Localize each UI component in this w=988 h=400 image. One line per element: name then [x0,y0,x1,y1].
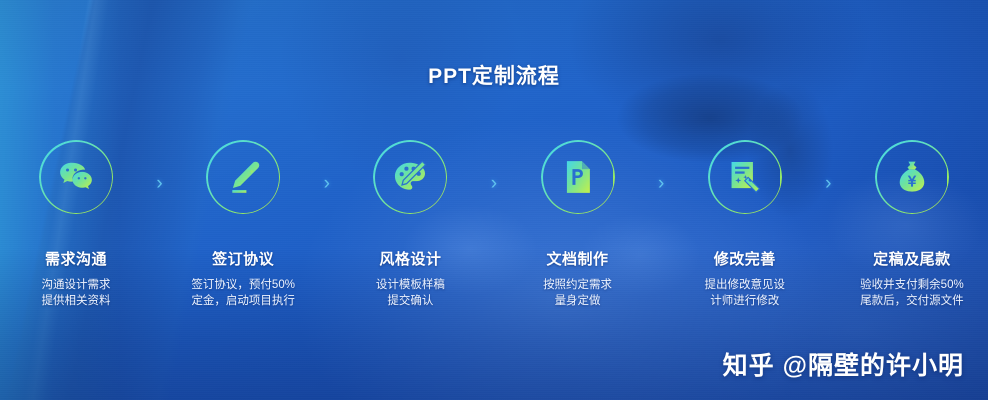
step-6-desc-line-1: 验收并支付剩余50% [860,277,964,293]
step-4-desc-line-2: 量身定做 [543,293,612,309]
chevron-right-icon-3: › [481,140,507,226]
step-2-desc-line-2: 定金，启动项目执行 [191,293,295,309]
chevron-right-icon-1: › [147,140,173,226]
step-3-desc-line-1: 设计模板样稿 [376,277,445,293]
step-4-icon-circle [541,140,615,214]
money-bag-yuan-icon [893,158,931,196]
step-5-desc-line-1: 提出修改意见设 [705,277,786,293]
palette-brush-icon [391,158,429,196]
step-5-icon-circle [708,140,782,214]
step-4-desc-line-1: 按照约定需求 [543,277,612,293]
step-1-description: 沟通设计需求 提供相关资料 [42,277,111,309]
process-step-5: 修改完善 提出修改意见设 计师进行修改 [685,140,805,309]
wechat-icon [57,158,95,196]
step-1-desc-line-1: 沟通设计需求 [42,277,111,293]
process-step-1: 需求沟通 沟通设计需求 提供相关资料 [16,140,136,309]
process-step-4: 文档制作 按照约定需求 量身定做 [518,140,638,309]
step-6-description: 验收并支付剩余50% 尾款后，交付源文件 [860,277,964,309]
process-step-6: 定稿及尾款 验收并支付剩余50% 尾款后，交付源文件 [852,140,972,309]
step-2-desc-line-1: 签订协议，预付50% [191,277,295,293]
step-2-icon-circle [206,140,280,214]
process-steps-row: 需求沟通 沟通设计需求 提供相关资料 › 签订协议 签订 [0,140,988,309]
process-step-3: 风格设计 设计模板样稿 提交确认 [350,140,470,309]
step-3-title: 风格设计 [379,248,441,269]
step-1-desc-line-2: 提供相关资料 [42,293,111,309]
step-3-icon-circle [373,140,447,214]
step-2-title: 签订协议 [212,248,274,269]
step-1-title: 需求沟通 [45,248,107,269]
step-1-icon-circle [39,140,113,214]
step-6-icon-circle [875,140,949,214]
ppt-process-banner: PPT定制流程 需求沟通 沟通设计需求 提供相 [0,0,988,400]
chevron-right-icon-5: › [815,140,841,226]
step-4-title: 文档制作 [547,248,609,269]
step-5-description: 提出修改意见设 计师进行修改 [705,277,786,309]
document-magic-wand-icon [726,158,764,196]
pencil-icon [224,158,262,196]
step-5-title: 修改完善 [714,248,776,269]
step-3-desc-line-2: 提交确认 [376,293,445,309]
chevron-right-icon-4: › [648,140,674,226]
step-6-desc-line-2: 尾款后，交付源文件 [860,293,964,309]
step-6-title: 定稿及尾款 [873,248,951,269]
step-3-description: 设计模板样稿 提交确认 [376,277,445,309]
step-4-description: 按照约定需求 量身定做 [543,277,612,309]
ppt-document-icon [559,158,597,196]
step-5-desc-line-2: 计师进行修改 [705,293,786,309]
chevron-right-icon-2: › [314,140,340,226]
page-title: PPT定制流程 [0,60,988,90]
process-step-2: 签订协议 签订协议，预付50% 定金，启动项目执行 [183,140,303,309]
watermark: 知乎 @隔壁的许小明 [723,346,964,382]
step-2-description: 签订协议，预付50% 定金，启动项目执行 [191,277,295,309]
